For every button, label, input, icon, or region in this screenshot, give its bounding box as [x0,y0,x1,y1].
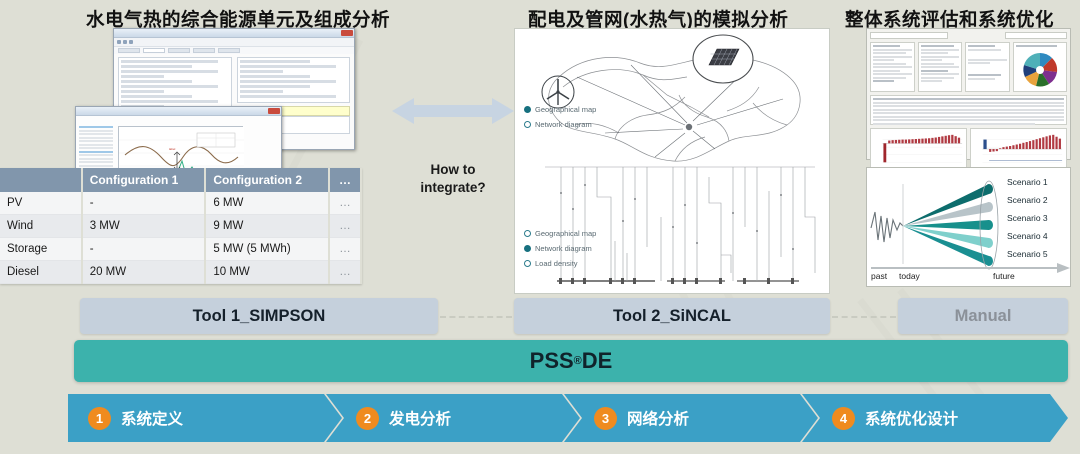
axis-label-past: past [871,271,887,281]
cell-pv-config1: - [82,192,206,215]
cell-diesel-config1: 20 MW [82,261,206,284]
radio-icon[interactable] [524,121,531,128]
column-header-name [0,168,82,192]
tool-connector-2 [832,316,896,318]
tool-3-label: Manual [955,307,1012,326]
configuration-table: Configuration 1 Configuration 2 … PV - 6… [0,168,362,284]
tab [218,48,240,53]
sincal-panel: Geographical map Network diagram [514,28,830,294]
radio-icon[interactable] [524,260,531,267]
scenario-label-5: Scenario 5 [1007,249,1048,259]
step-3-label: 网络分析 [627,407,689,429]
scenario-label-1: Scenario 1 [1007,177,1048,187]
pie-chart-panel [1013,42,1067,92]
step-3[interactable]: 3 网络分析 [564,394,818,442]
tool-connector-1 [440,316,512,318]
platform-suffix: DE [582,348,613,374]
step-1-badge: 1 [88,407,111,430]
row-label-storage: Storage [0,238,82,261]
cell-diesel-more: … [329,261,361,284]
tool-3-manual[interactable]: Manual [898,298,1068,334]
radio-label: Geographical map [535,105,596,114]
table-row: Wind 3 MW 9 MW … [0,215,361,238]
integrate-line-1: How to [392,161,514,179]
step-4[interactable]: 4 系统优化设计 [802,394,1068,442]
column-header-config-2: Configuration 2 [205,168,329,192]
tab [143,48,165,53]
summary-table-3 [965,42,1010,92]
table-row: Storage - 5 MW (5 MWh) … [0,238,361,261]
bar-chart-left [870,128,967,170]
scenario-fan-chart: Scenario 1 Scenario 2 Scenario 3 Scenari… [866,167,1071,287]
column-header-more: … [329,168,361,192]
evaluation-dashboard [866,28,1071,160]
step-1-label: 系统定义 [121,407,183,429]
cell-storage-config2: 5 MW (5 MWh) [205,238,329,261]
cell-storage-config1: - [82,238,206,261]
step-2-badge: 2 [356,407,379,430]
radio-label: Network diagram [535,244,592,253]
summary-table-2 [918,42,963,92]
step-2-label: 发电分析 [389,407,451,429]
window-titlebar [114,29,354,38]
cell-diesel-config2: 10 MW [205,261,329,284]
scenario-label-3: Scenario 3 [1007,213,1048,223]
tool-1-simpson[interactable]: Tool 1_SIMPSON [80,298,438,334]
cell-pv-config2: 6 MW [205,192,329,215]
scenario-label-4: Scenario 4 [1007,231,1048,241]
integrate-text: How to integrate? [392,161,514,197]
wind-turbine-icon [541,75,575,109]
tool-1-label: Tool 1_SIMPSON [193,307,326,326]
radio-label: Load density [535,259,578,268]
axis-label-today: today [899,271,920,281]
how-to-integrate-block: How to integrate? [392,96,514,176]
solar-panel-icon [693,35,753,83]
step-2[interactable]: 2 发电分析 [326,394,580,442]
summary-table-1 [870,42,915,92]
radio-option-network-diagram[interactable]: Network diagram [524,120,596,129]
process-steps: 1 系统定义 2 发电分析 3 网络分析 4 系统优化设计 [68,394,1068,442]
registered-mark: ® [574,355,582,367]
map-view-selector-top[interactable]: Geographical map Network diagram [524,105,596,135]
cell-wind-config1: 3 MW [82,215,206,238]
platform-name: PSS [530,348,574,374]
radio-icon[interactable] [524,106,531,113]
detail-table [870,95,1067,125]
radio-icon[interactable] [524,230,531,237]
network-diagram [515,157,831,297]
row-label-diesel: Diesel [0,261,82,284]
tab [168,48,190,53]
dashboard-tabs [870,32,1067,39]
step-1[interactable]: 1 系统定义 [68,394,342,442]
window-toolbar [114,38,354,47]
radio-label: Geographical map [535,229,596,238]
svg-text:label: label [169,147,176,151]
slide-root: 水电气热的综合能源单元及组成分析 配电及管网(水热气)的模拟分析 整体系统评估和… [0,0,1080,454]
radio-option-network-diagram[interactable]: Network diagram [524,244,596,253]
table-row: Diesel 20 MW 10 MW … [0,261,361,284]
step-3-badge: 3 [594,407,617,430]
window-tabs [114,47,354,54]
close-icon [268,108,280,114]
radio-option-load-density[interactable]: Load density [524,259,596,268]
close-icon [341,30,353,36]
window-titlebar [76,107,281,116]
pie-chart [1016,50,1064,90]
radio-label: Network diagram [535,120,592,129]
toolbar-icon [123,40,127,44]
cell-storage-more: … [329,238,361,261]
tab [870,32,948,39]
toolbar-icon [129,40,133,44]
bar-chart-right [970,128,1067,170]
axis-label-future: future [993,271,1015,281]
tab [118,48,140,53]
double-arrow-horizontal-icon [392,96,514,126]
row-label-wind: Wind [0,215,82,238]
integrate-line-2: integrate? [392,179,514,197]
map-view-selector-bottom[interactable]: Geographical map Network diagram Load de… [524,229,596,274]
row-label-pv: PV [0,192,82,215]
tool-2-sincal[interactable]: Tool 2_SiNCAL [514,298,830,334]
tab [1005,32,1067,39]
step-4-label: 系统优化设计 [865,407,958,429]
radio-icon[interactable] [524,245,531,252]
tab [193,48,215,53]
scenario-label-2: Scenario 2 [1007,195,1048,205]
column-header-config-1: Configuration 1 [82,168,206,192]
cell-wind-more: … [329,215,361,238]
radio-option-geographical-map[interactable]: Geographical map [524,105,596,114]
cell-pv-more: … [329,192,361,215]
cell-wind-config2: 9 MW [205,215,329,238]
table-row: PV - 6 MW … [0,192,361,215]
table-header-row: Configuration 1 Configuration 2 … [0,168,361,192]
toolbar-icon [117,40,121,44]
pss-de-platform-bar[interactable]: PSS® DE [74,340,1068,382]
radio-option-geographical-map[interactable]: Geographical map [524,229,596,238]
step-4-badge: 4 [832,407,855,430]
tool-2-label: Tool 2_SiNCAL [613,307,731,326]
